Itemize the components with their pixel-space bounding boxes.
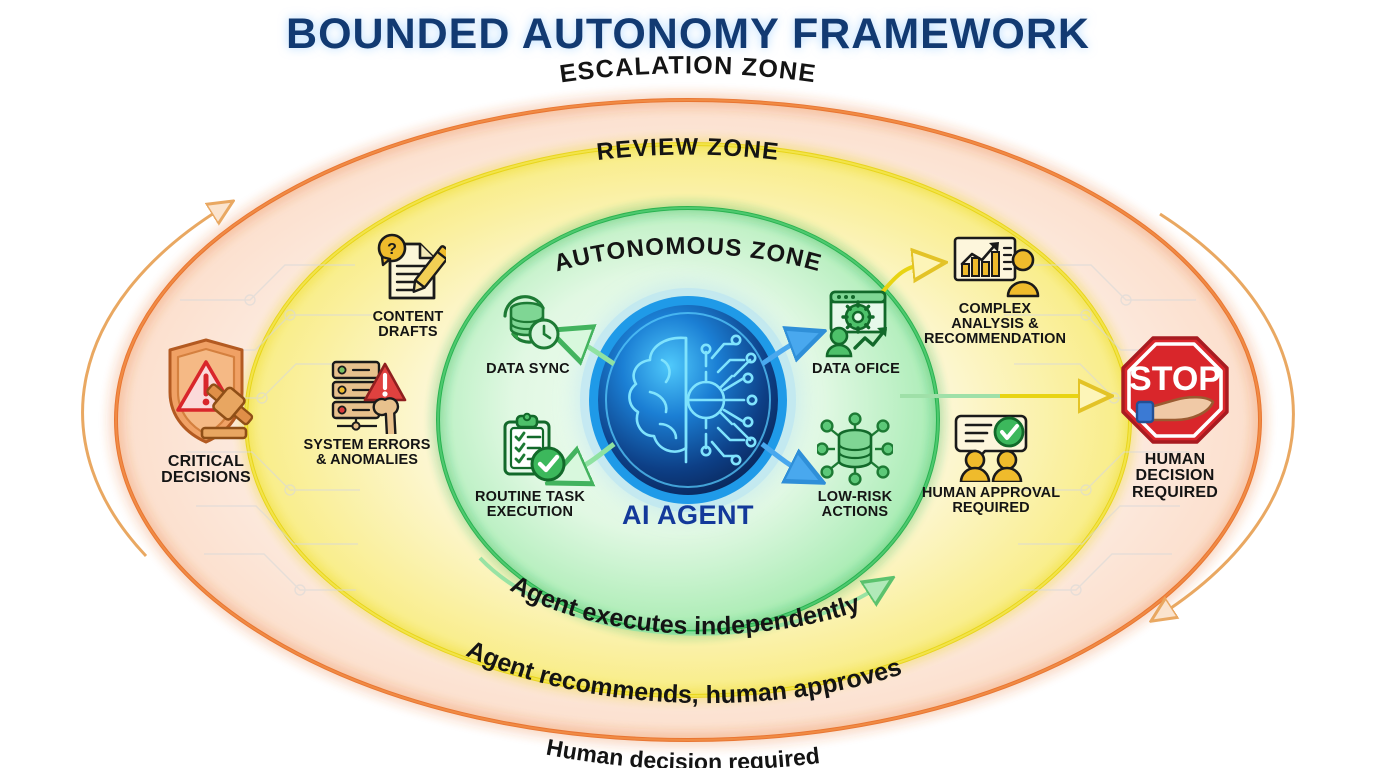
diagram-canvas: ESCALATION ZONE REVIEW ZONE AUTONOMOUS Z…	[0, 0, 1376, 768]
database-sync-clock-icon	[491, 286, 565, 358]
node-label: CRITICAL DECISIONS	[161, 454, 251, 487]
speech-check-people-icon	[947, 410, 1035, 482]
node-label: HUMAN DECISION REQUIRED	[1132, 452, 1218, 501]
node-label: DATA SYNC	[486, 362, 570, 377]
stop-sign-text: STOP	[1129, 360, 1221, 398]
document-pencil-question-icon: ?	[370, 232, 446, 306]
node-label: COMPLEX ANALYSIS & RECOMMENDATION	[924, 302, 1066, 346]
node-complex-analysis[interactable]: COMPLEX ANALYSIS & RECOMMENDATION	[912, 234, 1078, 346]
node-data-sync[interactable]: DATA SYNC	[462, 286, 594, 377]
page-title: BOUNDED AUTONOMY FRAMEWORK	[0, 10, 1376, 59]
clipboard-check-icon	[493, 412, 567, 486]
server-warning-wrench-icon	[325, 356, 409, 434]
node-content-drafts[interactable]: ? CONTENT DRAFTS	[348, 232, 468, 340]
node-data-office[interactable]: DATA OFICE	[790, 286, 922, 377]
node-label: DATA OFICE	[812, 362, 900, 377]
node-critical-decisions[interactable]: CRITICAL DECISIONS	[140, 336, 272, 487]
node-system-errors[interactable]: SYSTEM ERRORS & ANOMALIES	[296, 356, 438, 468]
browser-gear-user-growth-icon	[817, 286, 895, 358]
shield-warning-gavel-icon	[154, 336, 258, 450]
svg-text:?: ?	[387, 241, 397, 258]
stop-hand-icon: STOP	[1117, 332, 1233, 448]
node-human-decision-required[interactable]: STOP HUMAN DECISION REQUIRED	[1104, 332, 1246, 501]
chart-person-icon	[949, 234, 1041, 298]
node-label: CONTENT DRAFTS	[373, 310, 444, 340]
database-network-icon	[817, 412, 893, 486]
ai-agent-label: AI AGENT	[0, 500, 1376, 531]
node-label: SYSTEM ERRORS & ANOMALIES	[304, 438, 431, 468]
